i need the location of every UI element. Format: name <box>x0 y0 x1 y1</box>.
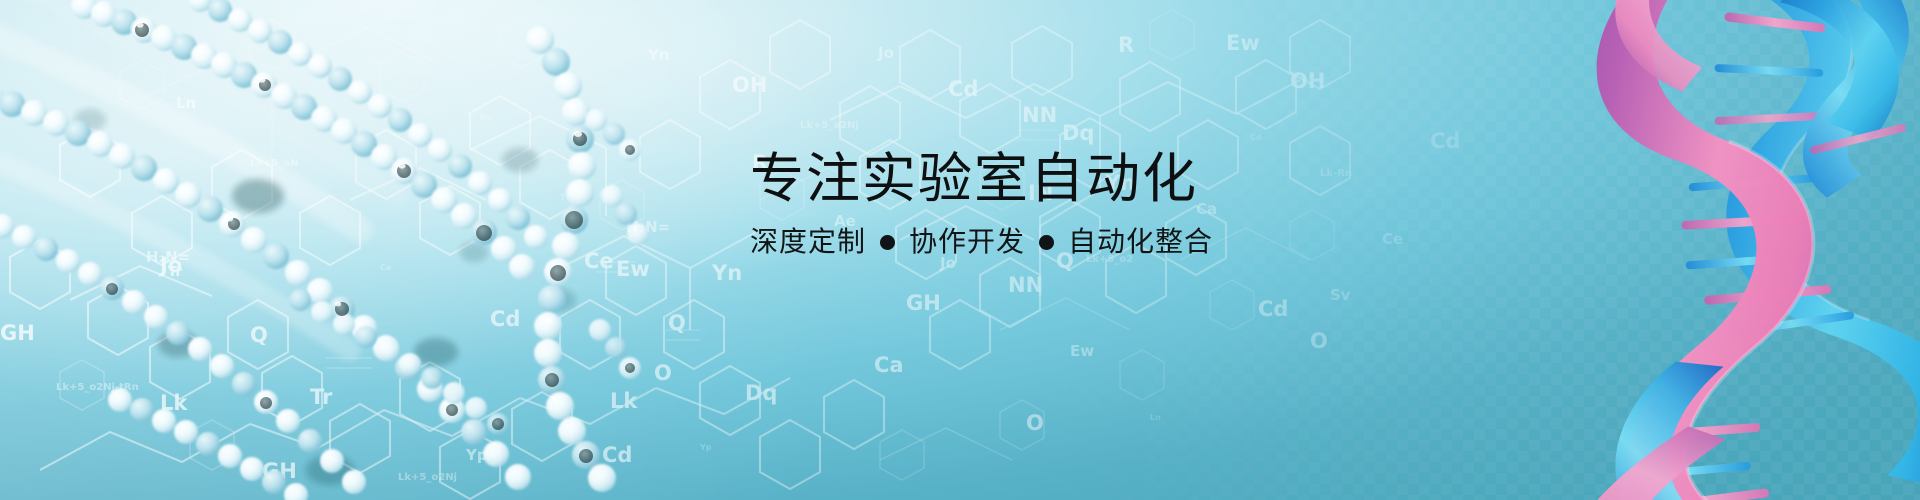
bullet-separator-icon <box>880 235 895 250</box>
tagline-item-3: 自动化整合 <box>1068 227 1213 258</box>
bullet-separator-icon <box>1039 235 1054 250</box>
tagline-item-2: 协作开发 <box>909 227 1025 258</box>
hero-banner: Cd Tr Jo Tr Yn Yn Lk Lk Ew Ew R R Dq Dq … <box>0 0 1920 500</box>
tagline: 深度定制 协作开发 自动化整合 <box>750 227 1450 258</box>
tagline-item-1: 深度定制 <box>750 227 866 258</box>
banner-copy: 专注实验室自动化 深度定制 协作开发 自动化整合 <box>750 150 1450 258</box>
page-title: 专注实验室自动化 <box>750 150 1450 207</box>
